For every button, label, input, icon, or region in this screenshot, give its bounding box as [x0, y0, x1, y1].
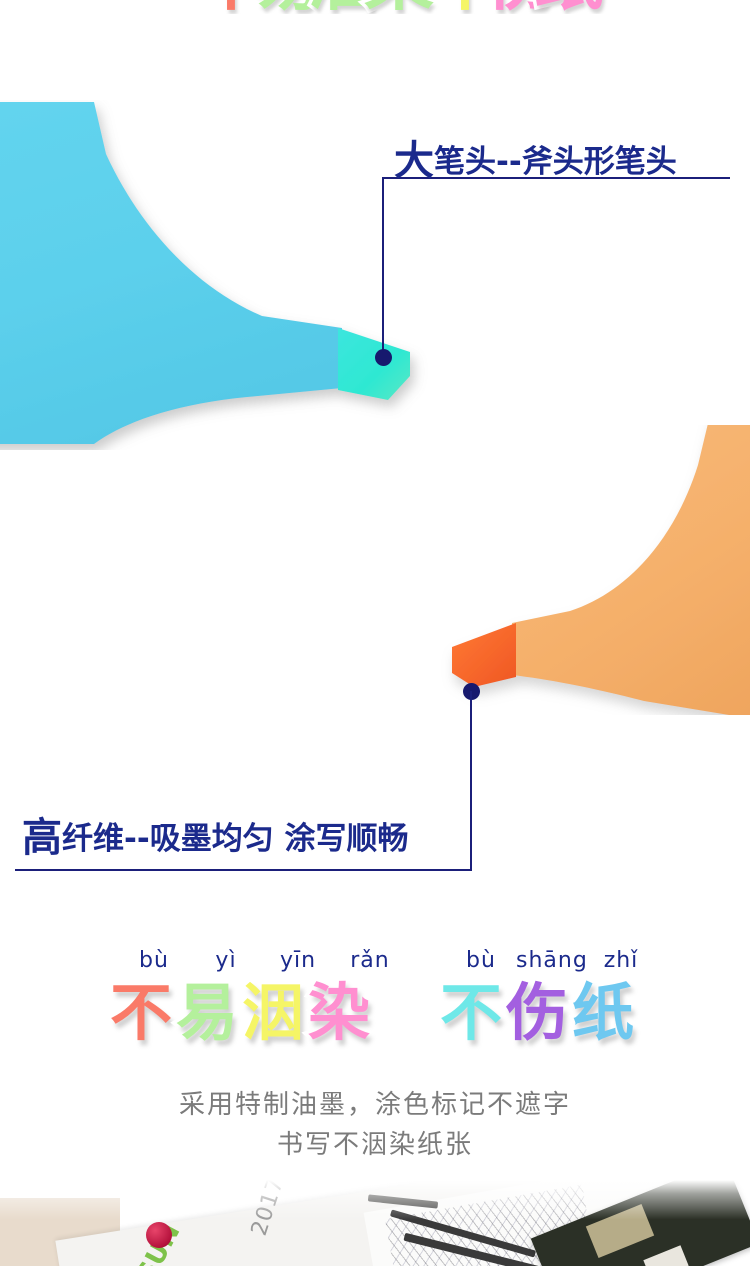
pinyin-row-left: bùyìyīnrǎn	[118, 948, 406, 973]
orange-marker-body	[512, 425, 750, 715]
pinyin-row-right: bùshāngzhǐ	[446, 948, 656, 973]
callout-1-anchor-dot	[375, 349, 392, 366]
blue-marker-body	[0, 102, 342, 444]
product-detail-page: 不 易 洇 染 不 伤 纸	[0, 0, 750, 1266]
bottom-photo-strip: 2017 SUN	[0, 1180, 750, 1266]
description-line-2: 书写不洇染纸张	[0, 1124, 750, 1161]
callout-2-horizontal-line	[15, 869, 472, 871]
slogan-char: 不	[440, 982, 502, 1044]
pinyin-syllable: bù	[446, 948, 516, 973]
description-line-1: 采用特制油墨，涂色标记不遮字	[0, 1084, 750, 1121]
blue-marker-chisel-tip	[338, 328, 410, 400]
blue-highlighter-image	[0, 100, 430, 450]
pinyin-syllable: shāng	[516, 948, 586, 973]
callout-1-vertical-line	[382, 178, 384, 358]
slogan-char: 不	[110, 982, 172, 1044]
slogan-left: 不易洇染	[110, 982, 374, 1044]
slogan-char: 染	[308, 982, 370, 1044]
top-partial-sticker-row: 不 易 洇 染 不 伤 纸	[0, 0, 750, 14]
slogan-char: 伤	[506, 982, 568, 1044]
orange-marker-chisel-tip	[452, 623, 516, 687]
pinyin-syllable: bù	[118, 948, 190, 973]
partial-sticker-char: 纸	[534, 0, 604, 14]
callout-2-lead: 高	[22, 815, 62, 861]
pinyin-syllable: rǎn	[334, 948, 406, 973]
callout-1-text: 大笔头--斧头形笔头	[394, 128, 677, 186]
slogan-char: 易	[176, 982, 238, 1044]
callout-2-text: 高纤维--吸墨均匀 涂写顺畅	[22, 805, 409, 863]
slogan-char: 洇	[242, 982, 304, 1044]
callout-1-lead: 大	[394, 138, 434, 184]
partial-sticker-char: 染	[364, 0, 434, 14]
callout-2-rest: 纤维--吸墨均匀 涂写顺畅	[62, 821, 409, 857]
slogan-char: 纸	[572, 982, 634, 1044]
pinyin-syllable: yì	[190, 948, 262, 973]
callout-1-rest: 笔头--斧头形笔头	[434, 144, 677, 180]
slogan-right: 不伤纸	[440, 982, 638, 1044]
photo-cherry	[146, 1222, 172, 1248]
pinyin-syllable: yīn	[262, 948, 334, 973]
pinyin-syllable: zhǐ	[586, 948, 656, 973]
orange-highlighter-image	[430, 425, 750, 715]
callout-2-vertical-line	[470, 691, 472, 871]
